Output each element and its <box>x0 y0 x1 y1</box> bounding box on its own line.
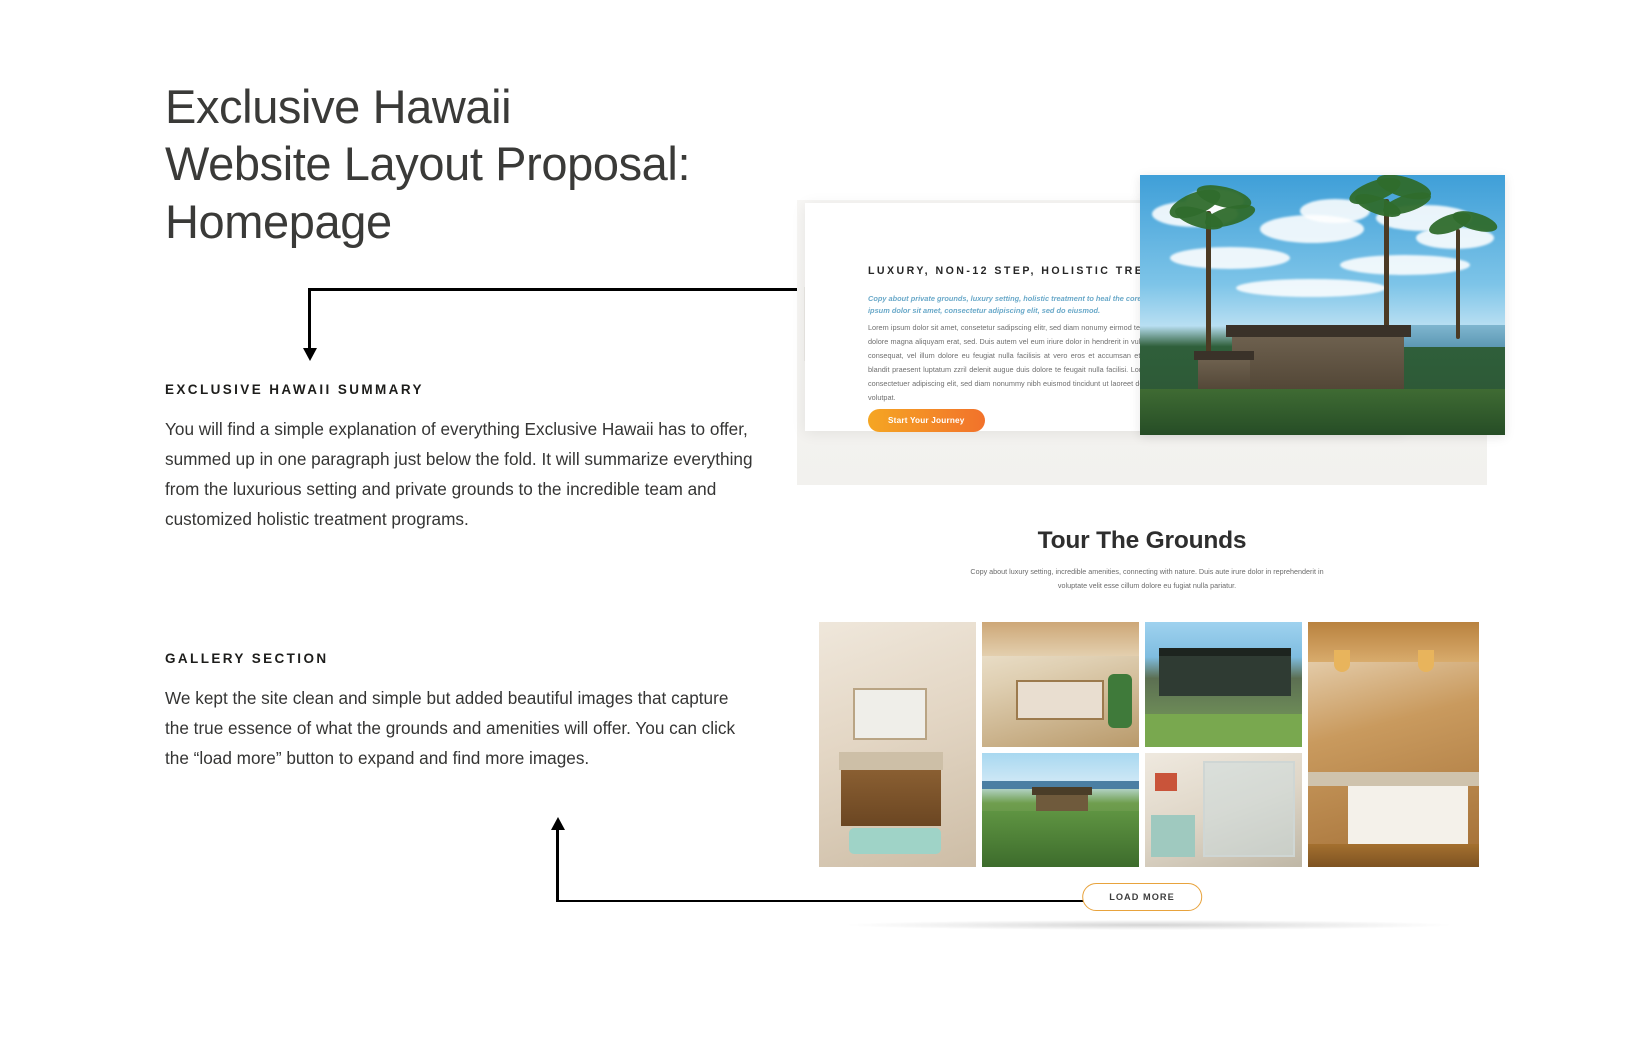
gallery-item-glass-shower[interactable] <box>1145 753 1302 867</box>
island-shape <box>1348 786 1468 844</box>
wall-art-shape <box>1155 773 1177 791</box>
callout-summary: EXCLUSIVE HAWAII SUMMARY You will find a… <box>165 382 755 534</box>
annotation-arrow-summary <box>308 288 843 368</box>
gallery-item-ocean-grounds-view[interactable] <box>982 753 1139 867</box>
arrow-vertical-segment <box>308 288 311 350</box>
tub-shape <box>1151 815 1195 857</box>
house-shape <box>1036 793 1088 811</box>
gallery-item-bedroom-interior[interactable] <box>982 622 1139 747</box>
callout-gallery-label: GALLERY SECTION <box>165 651 755 666</box>
title-line-2: Website Layout Proposal: <box>165 135 865 192</box>
villa-wing <box>1198 360 1250 390</box>
hero-photo-villa <box>1140 175 1505 435</box>
gallery-item-exterior-lanai[interactable] <box>1145 622 1302 747</box>
roof-shape <box>1159 648 1291 656</box>
title-line-1: Exclusive Hawaii <box>165 78 865 135</box>
villa-roof-secondary <box>1194 351 1254 360</box>
bath-mat-shape <box>849 828 941 854</box>
plant-shape <box>1108 674 1132 728</box>
palm-trunk <box>1384 199 1389 335</box>
lawn-shape <box>982 811 1139 867</box>
villa-roof <box>1226 325 1411 337</box>
cloud-shape <box>1340 255 1470 275</box>
pendant-light-icon <box>1418 650 1434 672</box>
mirror-shape <box>853 688 927 740</box>
tour-section-subtitle: Copy about luxury setting, incredible am… <box>967 565 1327 593</box>
website-mockup: D LUXURY, NON-12 STEP, HOLISTIC TREATMEN… <box>797 175 1487 920</box>
house-roof-shape <box>1032 787 1092 795</box>
foreground-lawn <box>1140 389 1505 435</box>
lawn-shape <box>1145 714 1302 747</box>
callout-gallery-body: We kept the site clean and simple but ad… <box>165 683 755 773</box>
villa-body <box>1232 337 1404 389</box>
gallery-item-kitchen-interior[interactable] <box>1308 622 1479 867</box>
arrow-head-up-icon <box>551 817 565 830</box>
wood-floor-shape <box>1308 844 1479 867</box>
shower-glass-shape <box>1203 761 1295 857</box>
ceiling-shape <box>982 622 1139 656</box>
gallery-grid <box>819 622 1479 867</box>
building-shape <box>1159 652 1291 696</box>
start-your-journey-button[interactable]: Start Your Journey <box>868 409 985 432</box>
cloud-shape <box>1170 247 1290 269</box>
load-more-button[interactable]: LOAD MORE <box>1082 883 1202 911</box>
callout-gallery: GALLERY SECTION We kept the site clean a… <box>165 651 755 773</box>
gallery-item-bathroom-vanity[interactable] <box>819 622 976 867</box>
callout-summary-body: You will find a simple explanation of ev… <box>165 414 755 534</box>
bed-shape <box>1016 680 1104 720</box>
counter-shape <box>839 752 943 770</box>
palm-trunk <box>1206 211 1211 361</box>
arrow-horizontal-segment <box>308 288 843 291</box>
palm-trunk <box>1456 229 1460 339</box>
page-bottom-shadow <box>849 920 1449 930</box>
arrow-head-down-icon <box>303 348 317 361</box>
title-line-3: Homepage <box>165 193 865 250</box>
cloud-shape <box>1236 279 1386 297</box>
tour-section-title: Tour The Grounds <box>797 527 1487 555</box>
cabinet-shape <box>841 770 941 826</box>
pendant-light-icon <box>1334 650 1350 672</box>
slide-canvas: Exclusive Hawaii Website Layout Proposal… <box>0 0 1650 1056</box>
page-title: Exclusive Hawaii Website Layout Proposal… <box>165 78 865 250</box>
callout-summary-label: EXCLUSIVE HAWAII SUMMARY <box>165 382 755 397</box>
countertop-shape <box>1308 772 1479 786</box>
arrow-vertical-segment <box>556 827 559 902</box>
